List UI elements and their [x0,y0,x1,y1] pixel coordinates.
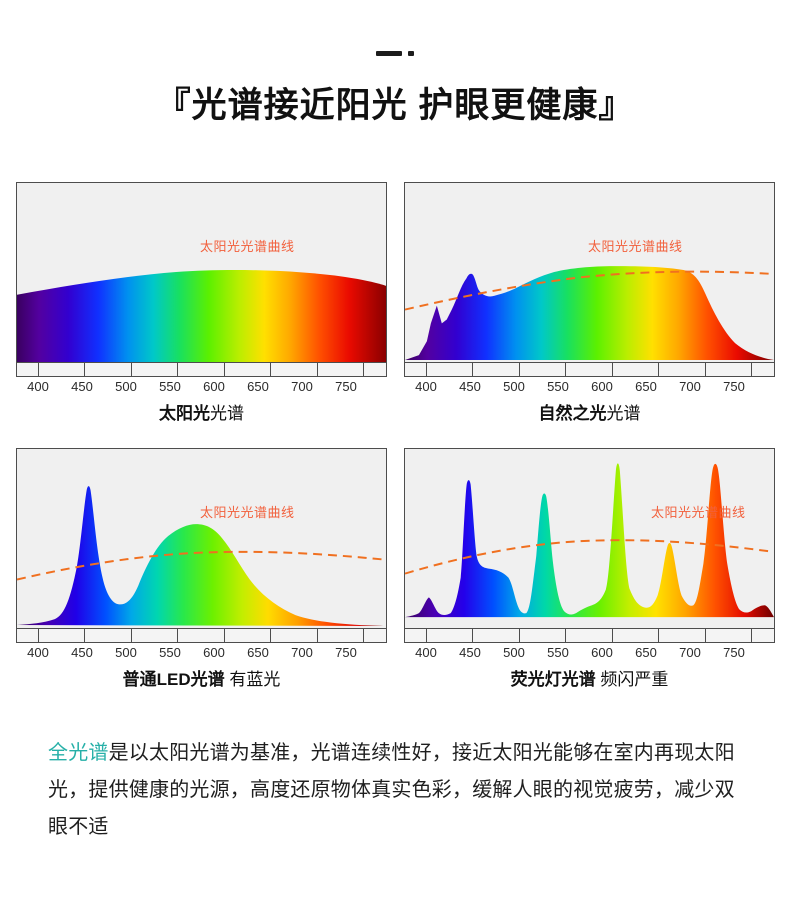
axis-tick-cell [225,629,271,642]
axis-tick-cell [178,629,224,642]
caption-bold-part: 普通LED光谱 [123,670,225,689]
chart-row-1: 太阳光光谱曲线 400 450 500 550 [0,182,790,448]
axis-strip-ordinary-led [16,629,387,643]
axis-tick-cell [39,629,85,642]
axis-tick-label: 550 [159,379,181,394]
axis-tick-cell [318,363,364,376]
natural-light-spectrum-svg [405,183,774,362]
axis-tick-label: 600 [591,379,613,394]
axis-tick-cell [318,629,364,642]
chart-plot-sunlight: 太阳光光谱曲线 [16,182,387,363]
axis-tick-cell [271,363,317,376]
caption-bold-part: 太阳光 [159,404,210,423]
description-body: 是以太阳光谱为基准，光谱连续性好，接近太阳光能够在室内再现太阳光，提供健康的光源… [48,742,735,838]
page-title: 『光谱接近阳光 护眼更健康』 [0,84,790,128]
axis-tick-cell [17,629,39,642]
axis-tick-label: 650 [247,645,269,660]
axis-tick-label: 700 [679,645,701,660]
chart-caption-natural-light: 自然之光光谱 [404,403,775,425]
axis-tick-label: 600 [203,645,225,660]
axis-labels-natural-light: 400 450 500 550 600 650 700 750 [404,377,775,397]
axis-tick-label: 400 [415,379,437,394]
axis-strip-natural-light [404,363,775,377]
axis-tick-cell [613,629,659,642]
axis-tick-label: 400 [27,645,49,660]
axis-tick-label: 550 [159,645,181,660]
axis-tick-cell [520,363,566,376]
axis-tick-label: 650 [247,379,269,394]
chart-card-fluorescent: 太阳光光谱曲线 400 450 500 550 [404,448,775,691]
axis-labels-fluorescent: 400 450 500 550 600 650 700 750 [404,643,775,663]
axis-tick-cell [405,363,427,376]
description-paragraph: 全光谱是以太阳光谱为基准，光谱连续性好，接近太阳光能够在室内再现太阳光，提供健康… [48,735,748,846]
spectrum-comparison-page: 『光谱接近阳光 护眼更健康』 [0,0,790,904]
axis-tick-label: 650 [635,645,657,660]
axis-tick-cell [271,629,317,642]
chart-grid: 太阳光光谱曲线 400 450 500 550 [0,182,790,714]
axis-tick-cell [132,629,178,642]
sunlight-curve-label: 太阳光光谱曲线 [200,240,295,254]
axis-labels-ordinary-led: 400 450 500 550 600 650 700 750 [16,643,387,663]
axis-tick-label: 450 [71,645,93,660]
caption-normal-part: 光谱 [210,404,244,423]
axis-tick-label: 750 [335,379,357,394]
axis-tick-label: 750 [723,379,745,394]
axis-tick-cell [39,363,85,376]
caption-bold-part: 自然之光 [539,404,607,423]
chart-card-natural-light: 太阳光光谱曲线 400 450 500 550 [404,182,775,425]
decorative-dash-dot-icon [0,44,790,62]
highlight-term: 全光谱 [48,742,109,764]
axis-tick-label: 500 [503,645,525,660]
axis-tick-cell [659,629,705,642]
axis-labels-sunlight: 400 450 500 550 600 650 700 750 [16,377,387,397]
axis-tick-label: 500 [115,379,137,394]
axis-tick-cell [178,363,224,376]
axis-tick-label: 500 [503,379,525,394]
chart-caption-fluorescent: 荧光灯光谱 频闪严重 [404,669,775,691]
axis-tick-label: 700 [679,379,701,394]
fluorescent-curve-label: 太阳光光谱曲线 [651,506,746,520]
axis-tick-label: 500 [115,645,137,660]
chart-card-sunlight: 太阳光光谱曲线 400 450 500 550 [16,182,387,425]
caption-normal-part: 光谱 [607,404,641,423]
chart-caption-sunlight: 太阳光光谱 [16,403,387,425]
led-curve-label: 太阳光光谱曲线 [200,506,295,520]
axis-tick-label: 650 [635,379,657,394]
dot-icon [408,51,414,56]
axis-tick-cell [427,629,473,642]
natural-light-curve-label: 太阳光光谱曲线 [588,240,683,254]
axis-tick-cell [85,363,131,376]
chart-plot-natural-light: 太阳光光谱曲线 [404,182,775,363]
axis-tick-label: 450 [71,379,93,394]
axis-tick-label: 750 [723,645,745,660]
led-spectrum-svg [17,449,386,628]
axis-tick-label: 400 [27,379,49,394]
axis-tick-cell [566,363,612,376]
sunlight-spectrum-svg [17,183,386,362]
axis-tick-cell [659,363,705,376]
axis-tick-cell [520,629,566,642]
axis-tick-cell [752,363,774,376]
axis-tick-cell [427,363,473,376]
axis-tick-label: 450 [459,645,481,660]
caption-bold-part: 荧光灯光谱 [511,670,596,689]
axis-tick-cell [17,363,39,376]
caption-normal-part: 有蓝光 [225,670,281,689]
axis-tick-cell [566,629,612,642]
dash-icon [376,51,402,56]
axis-tick-cell [132,363,178,376]
axis-tick-cell [473,363,519,376]
axis-tick-label: 750 [335,645,357,660]
fluorescent-spectrum-svg [405,449,774,628]
axis-tick-label: 550 [547,379,569,394]
chart-row-2: 太阳光光谱曲线 400 450 500 550 [0,448,790,714]
axis-tick-label: 600 [203,379,225,394]
axis-tick-label: 450 [459,379,481,394]
axis-tick-label: 550 [547,645,569,660]
axis-tick-cell [225,363,271,376]
axis-tick-label: 600 [591,645,613,660]
chart-caption-ordinary-led: 普通LED光谱 有蓝光 [16,669,387,691]
axis-tick-label: 400 [415,645,437,660]
chart-card-ordinary-led: 太阳光光谱曲线 400 450 500 550 [16,448,387,691]
caption-normal-part: 频闪严重 [596,670,669,689]
axis-strip-fluorescent [404,629,775,643]
axis-tick-cell [752,629,774,642]
axis-strip-sunlight [16,363,387,377]
axis-tick-cell [706,363,752,376]
axis-tick-cell [85,629,131,642]
axis-tick-cell [364,363,386,376]
axis-tick-label: 700 [291,645,313,660]
axis-tick-cell [613,363,659,376]
axis-tick-cell [473,629,519,642]
axis-tick-cell [364,629,386,642]
chart-plot-fluorescent: 太阳光光谱曲线 [404,448,775,629]
axis-tick-cell [706,629,752,642]
axis-tick-label: 700 [291,379,313,394]
chart-plot-ordinary-led: 太阳光光谱曲线 [16,448,387,629]
axis-tick-cell [405,629,427,642]
